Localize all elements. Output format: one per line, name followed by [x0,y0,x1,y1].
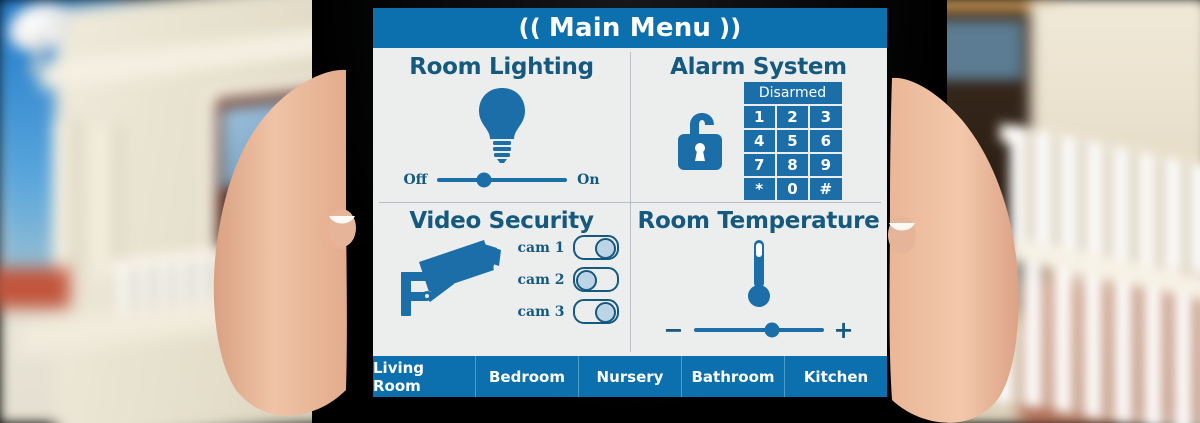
temperature-minus-label[interactable]: − [663,318,683,342]
tablet-screen: (( Main Menu )) Room Lighting [373,8,887,397]
keypad-key[interactable]: 1 [744,106,775,128]
room-temperature-body: − + [630,234,887,346]
nav-item-kitchen[interactable]: Kitchen [785,356,887,397]
lighting-slider-min-label: Off [403,172,427,188]
wave-left-icon: (( [519,16,541,40]
thermometer-icon [743,238,775,315]
keypad-key[interactable]: 7 [744,154,775,176]
alarm-keypad[interactable]: Disarmed 123456789*0# [744,82,842,200]
lighting-slider-track[interactable] [437,178,567,182]
pilaster [55,119,81,272]
lighting-slider-knob[interactable] [476,173,491,188]
toggle-knob [595,302,616,323]
temperature-plus-label[interactable]: + [834,318,854,342]
nav-item-bedroom[interactable]: Bedroom [476,356,579,397]
keypad-key[interactable]: 5 [777,130,808,152]
keypad-key[interactable]: * [744,178,775,200]
video-security-body: cam 1cam 2cam 3 [373,234,630,325]
panel-room-lighting[interactable]: Room Lighting Off [373,48,630,202]
page-title-text: Main Menu [549,13,711,43]
keypad-key[interactable]: 2 [777,106,808,128]
page-title: (( Main Menu )) [519,13,742,43]
camera-label: cam 1 [517,240,565,256]
nav-item-nursery[interactable]: Nursery [579,356,682,397]
panel-room-temperature[interactable]: Room Temperature − + [630,202,887,356]
alarm-keypad-buttons[interactable]: 123456789*0# [744,106,842,200]
temperature-slider-track[interactable] [694,328,824,332]
nav-item-living-room[interactable]: Living Room [373,356,476,397]
panel-alarm-system[interactable]: Alarm System Disarmed 123456789*0# [630,48,887,202]
panel-title-room-lighting: Room Lighting [373,54,630,80]
scene: (( Main Menu )) Room Lighting [0,0,1200,423]
keypad-key[interactable]: 3 [810,106,841,128]
room-lighting-body: Off On [373,80,630,192]
camera-toggle-list[interactable]: cam 1cam 2cam 3 [517,235,619,324]
panel-video-security[interactable]: Video Security [373,202,630,356]
red-roof [0,268,70,308]
nav-item-bathroom[interactable]: Bathroom [682,356,785,397]
camera-label: cam 3 [517,304,565,320]
temperature-slider[interactable]: − + [630,318,887,342]
alarm-system-body: Disarmed 123456789*0# [630,82,887,200]
right-hand [880,70,1030,423]
panel-title-room-temperature: Room Temperature [630,208,887,234]
app-header: (( Main Menu )) [373,8,887,48]
camera-row: cam 3 [517,299,619,324]
camera-row: cam 2 [517,267,619,292]
keypad-key[interactable]: 0 [777,178,808,200]
panel-grid: Room Lighting Off [373,48,887,356]
room-nav-bar[interactable]: Living RoomBedroomNurseryBathroomKitchen [373,356,887,397]
keypad-key[interactable]: # [810,178,841,200]
lighting-slider-max-label: On [577,172,599,188]
toggle-knob [595,238,616,259]
alarm-status-display: Disarmed [744,82,842,104]
camera-toggle[interactable] [573,267,619,292]
camera-row: cam 1 [517,235,619,260]
open-padlock-icon[interactable] [676,106,730,177]
keypad-key[interactable]: 8 [777,154,808,176]
keypad-key[interactable]: 9 [810,154,841,176]
lightbulb-icon [472,86,532,169]
toggle-knob [576,270,597,291]
camera-toggle[interactable] [573,299,619,324]
panel-title-alarm-system: Alarm System [630,54,887,80]
wave-right-icon: )) [719,16,741,40]
left-hand [196,60,366,423]
panel-title-video-security: Video Security [373,208,630,234]
camera-label: cam 2 [517,272,565,288]
lighting-slider[interactable]: Off On [373,172,630,188]
pilaster [97,125,123,278]
temperature-slider-knob[interactable] [764,323,779,338]
camera-toggle[interactable] [573,235,619,260]
keypad-key[interactable]: 6 [810,130,841,152]
keypad-key[interactable]: 4 [744,130,775,152]
cctv-camera-icon [385,234,505,325]
